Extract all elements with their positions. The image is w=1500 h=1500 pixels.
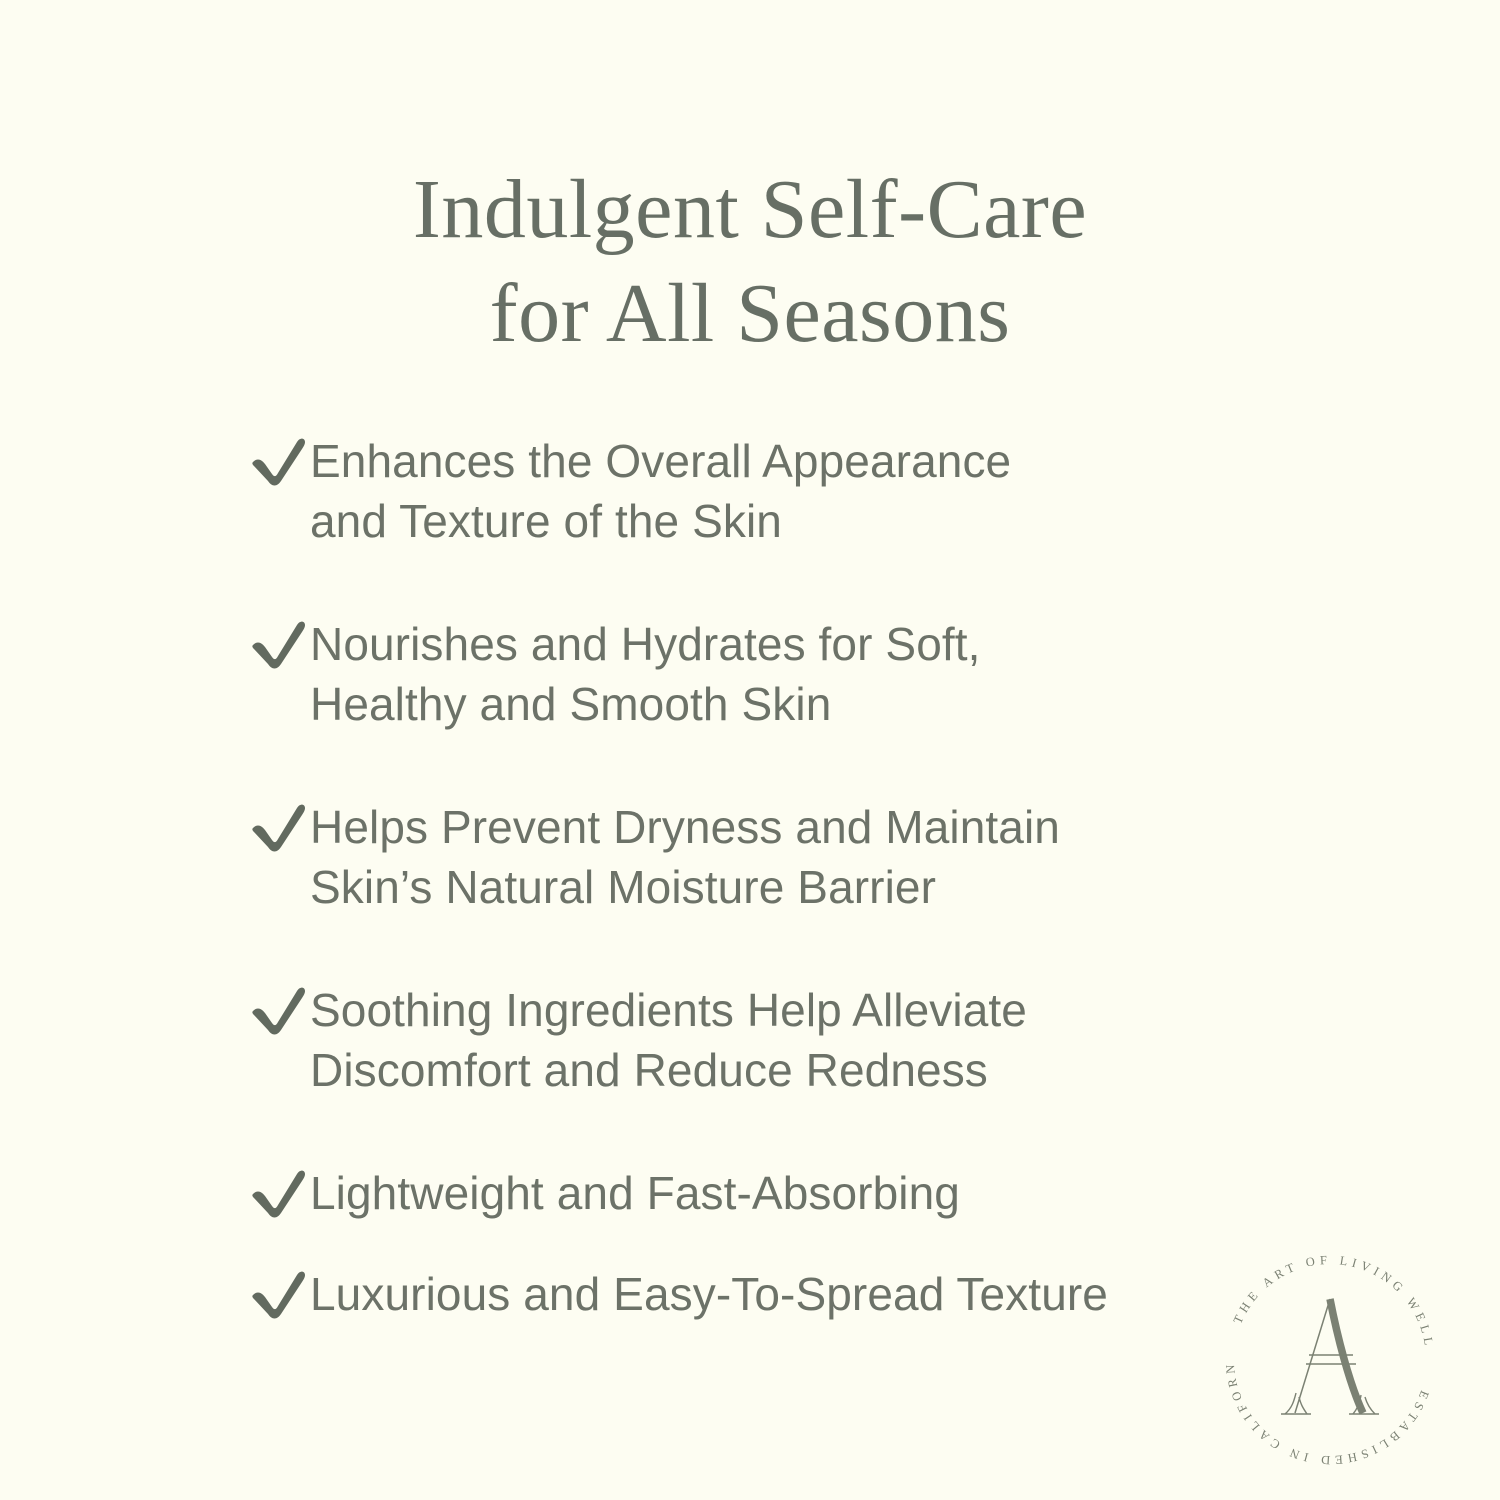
list-item-line-1: Lightweight and Fast-Absorbing (310, 1163, 1248, 1223)
list-item: Nourishes and Hydrates for Soft, Healthy… (248, 613, 1248, 734)
list-item: Helps Prevent Dryness and Maintain Skin’… (248, 796, 1248, 917)
list-item-text: Lightweight and Fast-Absorbing (310, 1162, 1248, 1223)
list-item: Luxurious and Easy-To-Spread Texture (248, 1263, 1248, 1324)
check-icon (248, 433, 310, 489)
list-item: Soothing Ingredients Help Alleviate Disc… (248, 979, 1248, 1100)
seal-ring-text-top: THE ART OF LIVING WELL · (1213, 1243, 1437, 1358)
list-item: Lightweight and Fast-Absorbing (248, 1162, 1248, 1223)
page-title-line-2: for All Seasons (0, 262, 1500, 366)
list-item-line-1: Enhances the Overall Appearance (310, 431, 1248, 491)
list-item-text: Luxurious and Easy-To-Spread Texture (310, 1263, 1248, 1324)
list-item-line-1: Soothing Ingredients Help Alleviate (310, 980, 1248, 1040)
seal-monogram-a (1281, 1299, 1379, 1414)
list-item-line-2: and Texture of the Skin (310, 491, 1248, 551)
list-item: Enhances the Overall Appearance and Text… (248, 430, 1248, 551)
list-item-text: Enhances the Overall Appearance and Text… (310, 430, 1248, 551)
list-item-line-1: Nourishes and Hydrates for Soft, (310, 614, 1248, 674)
page-title-line-1: Indulgent Self-Care (0, 158, 1500, 262)
check-icon (248, 1266, 310, 1322)
check-icon (248, 1165, 310, 1221)
list-item-line-2: Healthy and Smooth Skin (310, 674, 1248, 734)
infographic-canvas: Indulgent Self-Care for All Seasons Enha… (0, 0, 1500, 1500)
list-item-line-1: Luxurious and Easy-To-Spread Texture (310, 1264, 1248, 1324)
list-item-line-2: Discomfort and Reduce Redness (310, 1040, 1248, 1100)
list-item-text: Nourishes and Hydrates for Soft, Healthy… (310, 613, 1248, 734)
brand-seal-logo: THE ART OF LIVING WELL · ESTABLISHED IN … (1213, 1243, 1447, 1477)
list-item-text: Soothing Ingredients Help Alleviate Disc… (310, 979, 1248, 1100)
check-icon (248, 616, 310, 672)
list-item-line-1: Helps Prevent Dryness and Maintain (310, 797, 1248, 857)
benefits-list: Enhances the Overall Appearance and Text… (248, 430, 1248, 1324)
page-title: Indulgent Self-Care for All Seasons (0, 158, 1500, 366)
check-icon (248, 799, 310, 855)
check-icon (248, 982, 310, 1038)
list-item-line-2: Skin’s Natural Moisture Barrier (310, 857, 1248, 917)
list-item-text: Helps Prevent Dryness and Maintain Skin’… (310, 796, 1248, 917)
